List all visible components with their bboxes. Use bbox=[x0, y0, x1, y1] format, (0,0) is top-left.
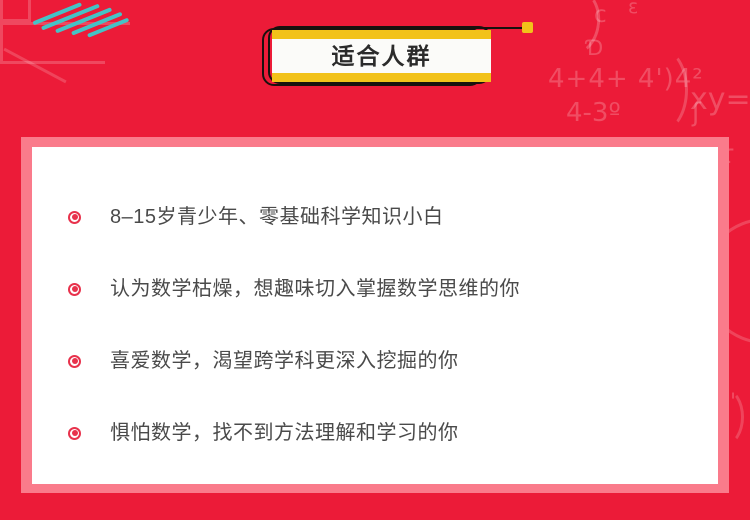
bullet-dot-icon bbox=[68, 283, 81, 296]
stripe-line bbox=[41, 4, 100, 31]
math-tick-decor: ' bbox=[730, 390, 736, 415]
math-slash-decor bbox=[3, 48, 66, 84]
math-big-paren-decor bbox=[636, 48, 688, 132]
math-epsilon-decor: ε bbox=[628, 0, 638, 18]
math-rectangle-decor bbox=[0, 0, 31, 22]
badge-plate: 适合人群 bbox=[272, 30, 491, 82]
list-item: 认为数学枯燥，想趣味切入掌握数学思维的你 bbox=[68, 271, 694, 307]
content-card-frame: 8–15岁青少年、零基础科学知识小白 认为数学枯燥，想趣味切入掌握数学思维的你 … bbox=[21, 137, 729, 493]
math-fraction-denominator-decor: 4-3º bbox=[566, 98, 621, 128]
math-paren-decor bbox=[544, 0, 605, 59]
page-title: 适合人群 bbox=[332, 45, 432, 68]
list-item-label: 喜爱数学，渴望跨学科更深入挖掘的你 bbox=[110, 349, 459, 373]
math-integral-decor: ʃ bbox=[692, 98, 701, 128]
math-vertical-line-decor bbox=[0, 25, 3, 61]
list-item: 惧怕数学，找不到方法理解和学习的你 bbox=[68, 415, 694, 451]
audience-bullet-list: 8–15岁青少年、零基础科学知识小白 认为数学枯燥，想趣味切入掌握数学思维的你 … bbox=[68, 199, 694, 451]
math-xy-equation-decor: xy=a bbox=[690, 82, 750, 117]
list-item: 8–15岁青少年、零基础科学知识小白 bbox=[68, 199, 694, 235]
math-fraction-numerator-decor: 4+4+ 4')4² bbox=[548, 64, 704, 94]
stripe-line bbox=[55, 7, 112, 33]
content-card: 8–15岁青少年、零基础科学知识小白 认为数学枯燥，想趣味切入掌握数学思维的你 … bbox=[32, 147, 718, 484]
bullet-dot-icon bbox=[68, 211, 81, 224]
badge-connector-dot-icon bbox=[522, 22, 533, 33]
list-item-label: 8–15岁青少年、零基础科学知识小白 bbox=[110, 205, 444, 229]
header-badge: 适合人群 bbox=[258, 18, 538, 92]
math-letter-d-decor: Ɗ bbox=[586, 36, 603, 60]
bullet-dot-icon bbox=[68, 427, 81, 440]
list-item: 喜爱数学，渴望跨学科更深入挖掘的你 bbox=[68, 343, 694, 379]
list-item-label: 惧怕数学，找不到方法理解和学习的你 bbox=[110, 421, 459, 445]
math-letter-c-decor: c bbox=[594, 2, 607, 28]
stripe-line bbox=[87, 18, 129, 38]
list-item-label: 认为数学枯燥，想趣味切入掌握数学思维的你 bbox=[110, 277, 520, 301]
math-fraction-bar-decor bbox=[0, 61, 105, 64]
diagonal-stripes-decor bbox=[27, 0, 161, 64]
math-horizontal-line-decor bbox=[0, 22, 130, 25]
bullet-dot-icon bbox=[68, 355, 81, 368]
poster-root: c ε Ɗ 4+4+ 4')4² 4-3º xy=a ʃ ɾ ' 适合人群 bbox=[0, 0, 750, 520]
